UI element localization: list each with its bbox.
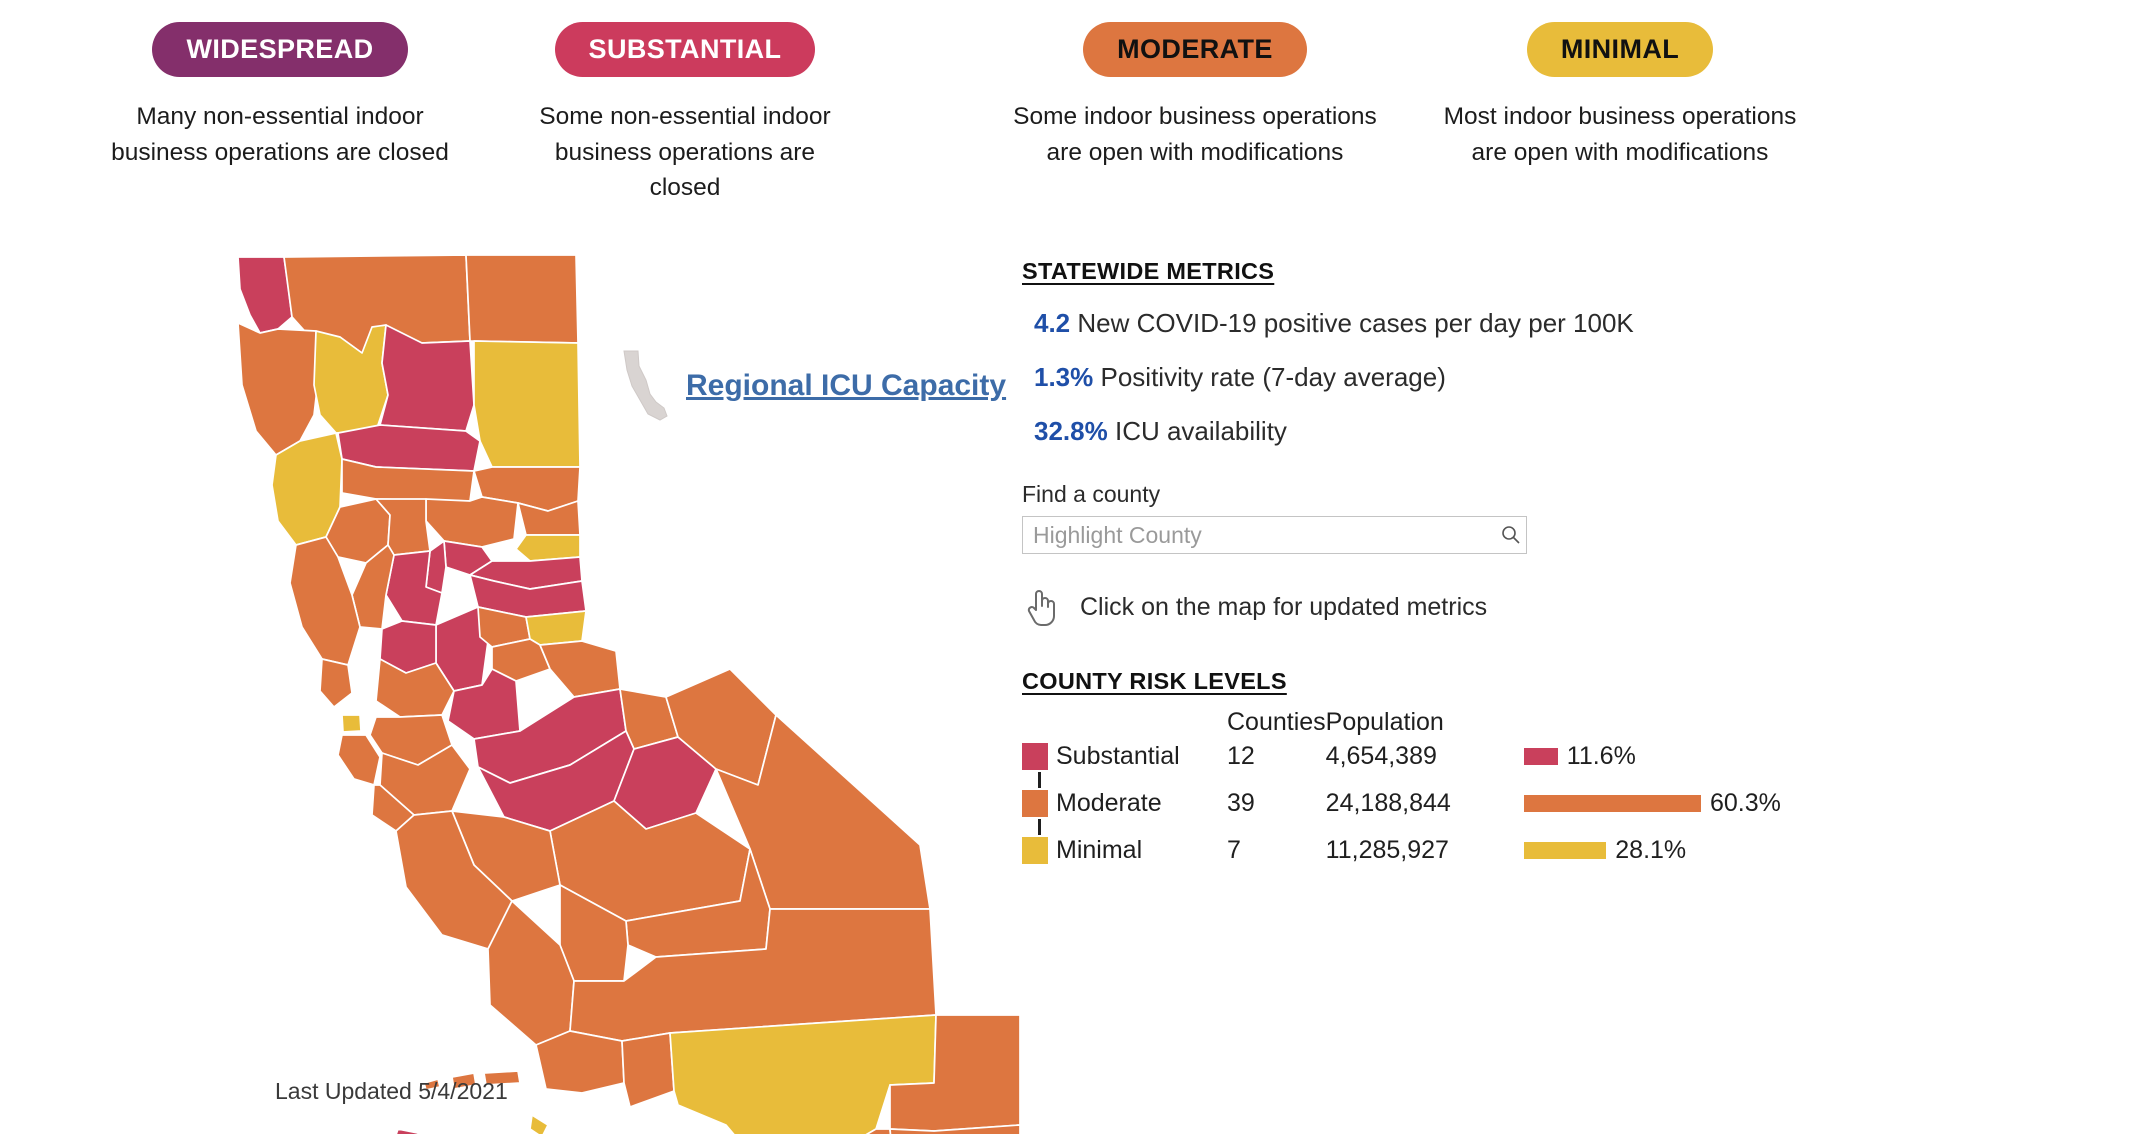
tier-column-substantial: SUBSTANTIAL Some non-essential indoor bu… xyxy=(525,22,845,206)
regional-icu-capacity-link-group[interactable]: Regional ICU Capacity xyxy=(620,348,1006,424)
tick-row-1 xyxy=(1022,772,1781,788)
tier-column-moderate: MODERATE Some indoor business operations… xyxy=(1010,22,1380,170)
county-butte[interactable] xyxy=(426,497,518,547)
click-map-hint-text: Click on the map for updated metrics xyxy=(1080,593,1487,622)
population-moderate: 24,188,844 xyxy=(1326,788,1508,819)
click-map-hint: Click on the map for updated metrics xyxy=(1022,586,2022,628)
last-updated-label: Last Updated 5/4/2021 xyxy=(275,1078,508,1105)
find-a-county-label: Find a county xyxy=(1022,481,2022,508)
color-swatch-moderate xyxy=(1022,790,1048,817)
color-swatch-minimal xyxy=(1022,837,1048,864)
metric-value-positivity: 1.3% xyxy=(1034,362,1093,392)
tick-cell-1 xyxy=(1022,772,1056,788)
county-humboldt[interactable] xyxy=(238,323,320,455)
header-population: Population xyxy=(1326,707,1508,741)
swatch-cell-minimal xyxy=(1022,835,1056,866)
metric-label-cases: New COVID-19 positive cases per day per … xyxy=(1077,308,1633,338)
header-counties: Counties xyxy=(1221,707,1326,741)
county-search-box[interactable] xyxy=(1022,516,1527,554)
bar-label-substantial: 11.6% xyxy=(1567,742,1636,771)
risk-level-moderate: Moderate xyxy=(1056,788,1221,819)
legend-tick-icon xyxy=(1038,819,1041,835)
header-risk-level xyxy=(1056,707,1221,741)
color-swatch-substantial xyxy=(1022,743,1048,770)
risk-level-minimal: Minimal xyxy=(1056,835,1221,866)
table-row[interactable]: Moderate 39 24,188,844 60.3% xyxy=(1022,788,1781,819)
share-cell-moderate: 60.3% xyxy=(1508,788,1781,819)
risk-level-substantial: Substantial xyxy=(1056,741,1221,772)
tier-description-moderate: Some indoor business operations are open… xyxy=(1010,99,1380,170)
counties-substantial: 12 xyxy=(1221,741,1326,772)
share-cell-substantial: 11.6% xyxy=(1508,741,1781,772)
metric-value-cases: 4.2 xyxy=(1034,308,1070,338)
search-input[interactable] xyxy=(1023,517,1496,553)
bar-label-moderate: 60.3% xyxy=(1710,789,1781,818)
tier-badge-minimal[interactable]: MINIMAL xyxy=(1527,22,1713,77)
statewide-metrics-heading: STATEWIDE METRICS xyxy=(1022,258,2022,285)
metric-row-icu: 32.8% ICU availability xyxy=(1022,416,2022,447)
california-outline-icon xyxy=(620,348,672,424)
legend-tick-icon xyxy=(1038,772,1041,788)
bar-label-minimal: 28.1% xyxy=(1615,836,1686,865)
tick-row-2 xyxy=(1022,819,1781,835)
county-santa-barbara[interactable] xyxy=(536,1031,624,1093)
regional-icu-capacity-link[interactable]: Regional ICU Capacity xyxy=(686,369,1006,403)
metric-row-positivity: 1.3% Positivity rate (7-day average) xyxy=(1022,362,2022,393)
search-icon[interactable] xyxy=(1496,524,1526,546)
metric-label-icu: ICU availability xyxy=(1115,416,1287,446)
county-risk-levels-table: Counties Population Substantial 12 4,654… xyxy=(1022,707,1781,866)
table-row[interactable]: Minimal 7 11,285,927 28.1% xyxy=(1022,835,1781,866)
population-minimal: 11,285,927 xyxy=(1326,835,1508,866)
county-risk-levels-heading: COUNTY RISK LEVELS xyxy=(1022,668,2022,695)
island-catalina[interactable] xyxy=(530,1115,548,1134)
header-share xyxy=(1508,707,1781,741)
tier-badge-substantial[interactable]: SUBSTANTIAL xyxy=(555,22,816,77)
tier-description-substantial: Some non-essential indoor business opera… xyxy=(525,99,845,206)
tick-spacer-2 xyxy=(1056,819,1781,835)
county-san-francisco[interactable] xyxy=(342,715,361,732)
county-del-norte[interactable] xyxy=(238,257,292,333)
bar-minimal xyxy=(1524,842,1607,859)
bar-substantial xyxy=(1524,748,1558,765)
metric-label-positivity: Positivity rate (7-day average) xyxy=(1101,362,1446,392)
county-ventura[interactable] xyxy=(622,1033,674,1107)
swatch-cell-moderate xyxy=(1022,788,1056,819)
tier-description-widespread: Many non-essential indoor business opera… xyxy=(110,99,450,170)
tier-description-minimal: Most indoor business operations are open… xyxy=(1435,99,1805,170)
tier-column-minimal: MINIMAL Most indoor business operations … xyxy=(1435,22,1805,170)
island-san-nicolas[interactable] xyxy=(396,1129,418,1134)
tier-map-page: WIDESPREAD Many non-essential indoor bus… xyxy=(0,0,2142,1134)
header-swatch xyxy=(1022,707,1056,741)
swatch-cell-substantial xyxy=(1022,741,1056,772)
county-marin[interactable] xyxy=(320,659,352,707)
table-header-row: Counties Population xyxy=(1022,707,1781,741)
table-row[interactable]: Substantial 12 4,654,389 11.6% xyxy=(1022,741,1781,772)
counties-moderate: 39 xyxy=(1221,788,1326,819)
county-tuolumne[interactable] xyxy=(540,641,620,697)
metric-value-icu: 32.8% xyxy=(1034,416,1108,446)
tick-spacer-1 xyxy=(1056,772,1781,788)
metric-row-cases: 4.2 New COVID-19 positive cases per day … xyxy=(1022,308,2022,339)
county-lassen[interactable] xyxy=(474,341,580,467)
pointing-hand-icon xyxy=(1022,586,1062,628)
tier-badge-moderate[interactable]: MODERATE xyxy=(1083,22,1307,77)
share-cell-minimal: 28.1% xyxy=(1508,835,1781,866)
bar-moderate xyxy=(1524,795,1701,812)
county-alpine[interactable] xyxy=(526,611,586,645)
tier-badge-widespread[interactable]: WIDESPREAD xyxy=(152,22,407,77)
counties-minimal: 7 xyxy=(1221,835,1326,866)
county-modoc[interactable] xyxy=(466,255,578,343)
county-san-mateo[interactable] xyxy=(338,735,380,785)
tick-cell-2 xyxy=(1022,819,1056,835)
tier-column-widespread: WIDESPREAD Many non-essential indoor bus… xyxy=(110,22,450,170)
metrics-panel: STATEWIDE METRICS 4.2 New COVID-19 posit… xyxy=(1022,258,2022,866)
tier-legend-strip: WIDESPREAD Many non-essential indoor bus… xyxy=(0,0,2142,210)
population-substantial: 4,654,389 xyxy=(1326,741,1508,772)
